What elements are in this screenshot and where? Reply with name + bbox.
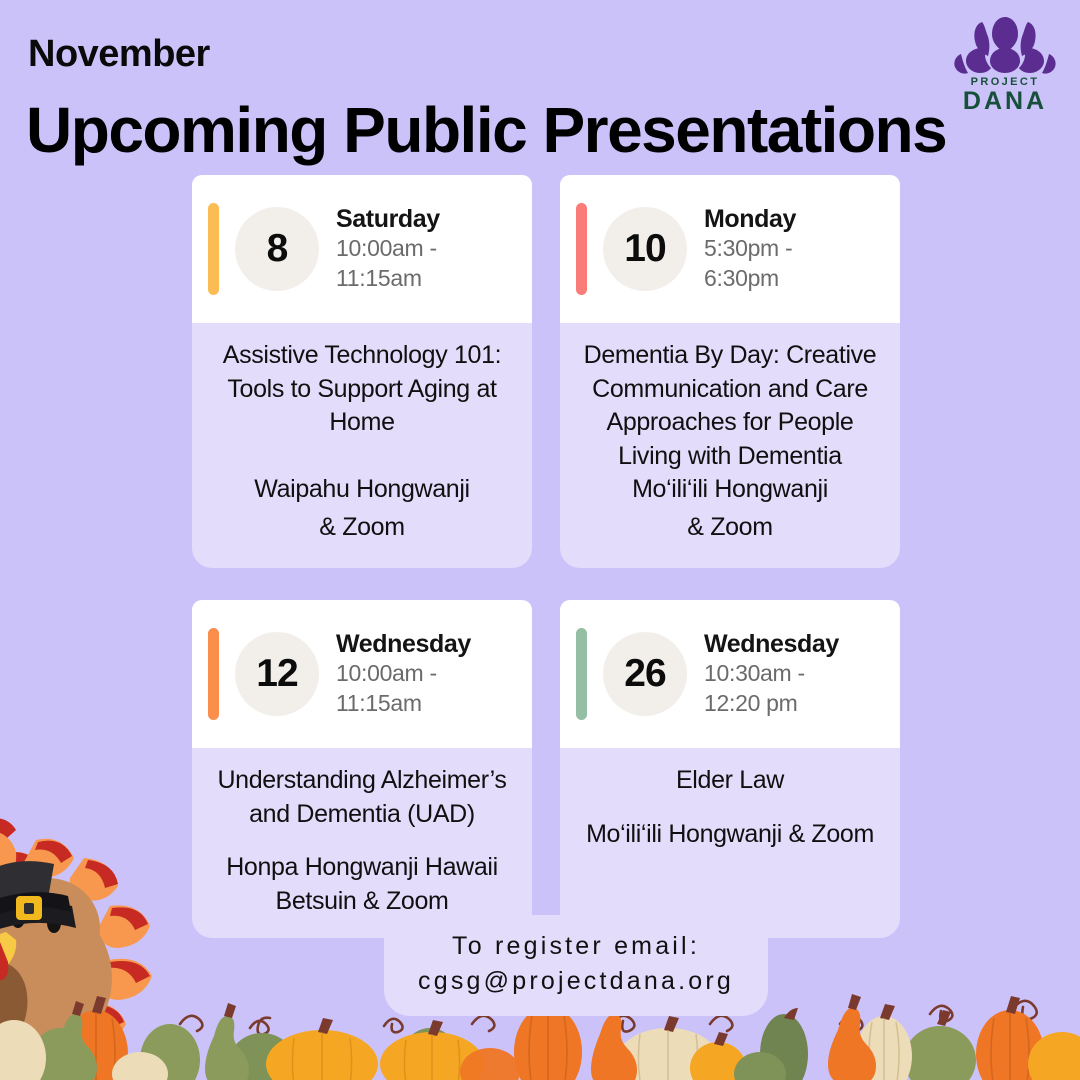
accent-bar: [576, 203, 587, 295]
accent-bar: [208, 203, 219, 295]
weekday-label: Monday: [704, 205, 796, 235]
accent-bar: [576, 628, 587, 720]
weekday-label: Wednesday: [336, 630, 471, 660]
time-line-2: 11:15am: [336, 264, 440, 293]
event-location: Waipahu Hongwanji & Zoom: [204, 473, 520, 548]
event-card-header: 26 Wednesday 10:30am - 12:20 pm: [560, 600, 900, 748]
weekday-label: Wednesday: [704, 630, 839, 660]
day-circle: 12: [235, 632, 319, 716]
accent-bar: [208, 628, 219, 720]
location-line-2: & Zoom: [204, 511, 520, 545]
day-circle: 10: [603, 207, 687, 291]
event-card-header: 8 Saturday 10:00am - 11:15am: [192, 175, 532, 323]
event-card-body: Assistive Technology 101: Tools to Suppo…: [192, 323, 532, 568]
event-location: Honpa Hongwanji Hawaii Betsuin & Zoom: [204, 851, 520, 918]
events-grid: 8 Saturday 10:00am - 11:15am Assistive T…: [192, 175, 900, 938]
register-line-1: To register email:: [394, 929, 758, 964]
event-location: Mo‘ili‘ili Hongwanji & Zoom: [572, 818, 888, 852]
page-title: Upcoming Public Presentations: [26, 98, 946, 162]
day-number: 10: [624, 227, 665, 271]
day-number: 8: [267, 227, 288, 271]
month-label: November: [28, 33, 210, 76]
event-card[interactable]: 26 Wednesday 10:30am - 12:20 pm Elder La…: [560, 600, 900, 938]
event-title: Assistive Technology 101: Tools to Suppo…: [204, 339, 520, 440]
logo-dana-text: DANA: [950, 88, 1060, 114]
time-line-1: 10:00am -: [336, 234, 440, 263]
event-title: Elder Law: [572, 764, 888, 798]
event-header-text: Wednesday 10:00am - 11:15am: [336, 630, 471, 718]
location-line-1: Mo‘ili‘ili Hongwanji & Zoom: [572, 818, 888, 852]
event-card[interactable]: 12 Wednesday 10:00am - 11:15am Understan…: [192, 600, 532, 938]
location-line-2: Betsuin & Zoom: [204, 885, 520, 919]
time-line-2: 11:15am: [336, 689, 471, 718]
register-callout: To register email: cgsg@projectdana.org: [384, 915, 768, 1016]
event-location: Mo‘ili‘ili Hongwanji & Zoom: [572, 473, 888, 548]
location-line-1: Waipahu Hongwanji: [204, 473, 520, 507]
event-card-header: 12 Wednesday 10:00am - 11:15am: [192, 600, 532, 748]
day-number: 26: [624, 652, 665, 696]
location-line-1: Honpa Hongwanji Hawaii: [204, 851, 520, 885]
lotus-flower-icon: [950, 14, 1060, 76]
event-title: Understanding Alzheimer’s and Dementia (…: [204, 764, 520, 831]
event-card-header: 10 Monday 5:30pm - 6:30pm: [560, 175, 900, 323]
event-card-body: Understanding Alzheimer’s and Dementia (…: [192, 748, 532, 938]
weekday-label: Saturday: [336, 205, 440, 235]
register-email: cgsg@projectdana.org: [394, 964, 758, 999]
event-header-text: Saturday 10:00am - 11:15am: [336, 205, 440, 293]
event-title: Dementia By Day: Creative Communication …: [572, 339, 888, 473]
time-line-2: 12:20 pm: [704, 689, 839, 718]
time-line-1: 5:30pm -: [704, 234, 796, 263]
event-card[interactable]: 8 Saturday 10:00am - 11:15am Assistive T…: [192, 175, 532, 568]
location-line-1: Mo‘ili‘ili Hongwanji: [572, 473, 888, 507]
event-card-body: Dementia By Day: Creative Communication …: [560, 323, 900, 568]
project-dana-logo: PROJECT DANA: [950, 14, 1060, 114]
event-header-text: Monday 5:30pm - 6:30pm: [704, 205, 796, 293]
time-line-1: 10:30am -: [704, 659, 839, 688]
time-line-1: 10:00am -: [336, 659, 471, 688]
day-number: 12: [256, 652, 297, 696]
time-line-2: 6:30pm: [704, 264, 796, 293]
event-card[interactable]: 10 Monday 5:30pm - 6:30pm Dementia By Da…: [560, 175, 900, 568]
day-circle: 26: [603, 632, 687, 716]
day-circle: 8: [235, 207, 319, 291]
location-line-2: & Zoom: [572, 511, 888, 545]
event-card-body: Elder Law Mo‘ili‘ili Hongwanji & Zoom: [560, 748, 900, 938]
event-header-text: Wednesday 10:30am - 12:20 pm: [704, 630, 839, 718]
